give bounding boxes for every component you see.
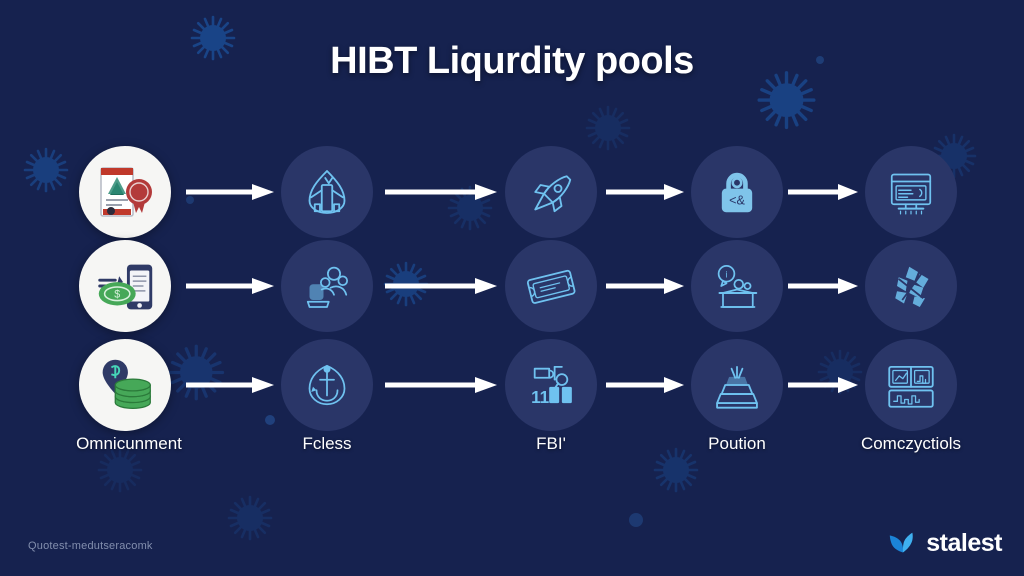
arrow-4 [788, 276, 858, 296]
info-person-icon: i [709, 258, 765, 314]
flow-node-blocks-eleven[interactable]: 11 [505, 339, 597, 431]
flow-node-padlock[interactable]: <& [691, 146, 783, 238]
flow-row-2: $ [0, 240, 1024, 332]
arrow-1 [186, 182, 274, 202]
arrow-3 [606, 375, 684, 395]
brand-logo: stalest [887, 528, 1002, 558]
flow-node-browser-window[interactable] [865, 146, 957, 238]
blocks-eleven-icon: 11 [522, 356, 580, 414]
flow-label-4: Poution [708, 434, 766, 454]
flow-node-dashboard-panel[interactable] [865, 339, 957, 431]
flow-label-1: Omnicunment [76, 434, 182, 454]
shield-anchor-icon [299, 357, 355, 413]
svg-text:i: i [726, 269, 728, 279]
source-watermark: Quotest-medutseracomk [28, 540, 153, 552]
location-coins-icon [90, 350, 160, 420]
people-group-icon [299, 258, 355, 314]
ticket-card-icon [522, 257, 580, 315]
svg-text:<&: <& [729, 194, 745, 208]
flow-row-3: 11 [0, 339, 1024, 431]
arrow-1 [186, 375, 274, 395]
flow-label-5: Comczyctiols [861, 434, 961, 454]
browser-window-icon [883, 164, 939, 220]
flow-node-tiered-cake[interactable] [691, 339, 783, 431]
flow-node-people-group[interactable] [281, 240, 373, 332]
svg-text:$: $ [114, 289, 120, 301]
flow-node-ticket-card[interactable] [505, 240, 597, 332]
flow-node-info-person[interactable]: i [691, 240, 783, 332]
cluster-icon [883, 258, 939, 314]
certificate-seal-icon [89, 156, 161, 228]
arrow-3 [606, 182, 684, 202]
shield-bag-icon [299, 164, 355, 220]
arrow-2 [385, 276, 497, 296]
arrow-3 [606, 276, 684, 296]
leaf-mark-icon [887, 528, 917, 558]
cash-phone-icon: $ [90, 251, 160, 321]
flow-labels: Omnicunment Fcless FBI' Poution Comczyct… [0, 434, 1024, 462]
rocket-icon [523, 164, 579, 220]
flow-node-shield-bag[interactable] [281, 146, 373, 238]
arrow-1 [186, 276, 274, 296]
flow-node-cash-phone[interactable]: $ [79, 240, 171, 332]
page-title: HIBT Liqurdity pools [0, 40, 1024, 83]
flow-node-rocket[interactable] [505, 146, 597, 238]
arrow-2 [385, 182, 497, 202]
dashboard-panel-icon [882, 356, 940, 414]
arrow-4 [788, 182, 858, 202]
flow-node-location-coins[interactable] [79, 339, 171, 431]
flow-label-3: FBI' [536, 434, 566, 454]
padlock-icon: <& [710, 165, 764, 219]
brand-name: stalest [926, 529, 1002, 558]
blocks-badge-text: 11 [531, 387, 550, 407]
flow-node-cluster[interactable] [865, 240, 957, 332]
flow-node-shield-anchor[interactable] [281, 339, 373, 431]
arrow-2 [385, 375, 497, 395]
tiered-cake-icon [708, 356, 766, 414]
flow-node-certificate-seal[interactable] [79, 146, 171, 238]
arrow-4 [788, 375, 858, 395]
flow-row-1: <& [0, 146, 1024, 238]
flow-label-2: Fcless [302, 434, 351, 454]
